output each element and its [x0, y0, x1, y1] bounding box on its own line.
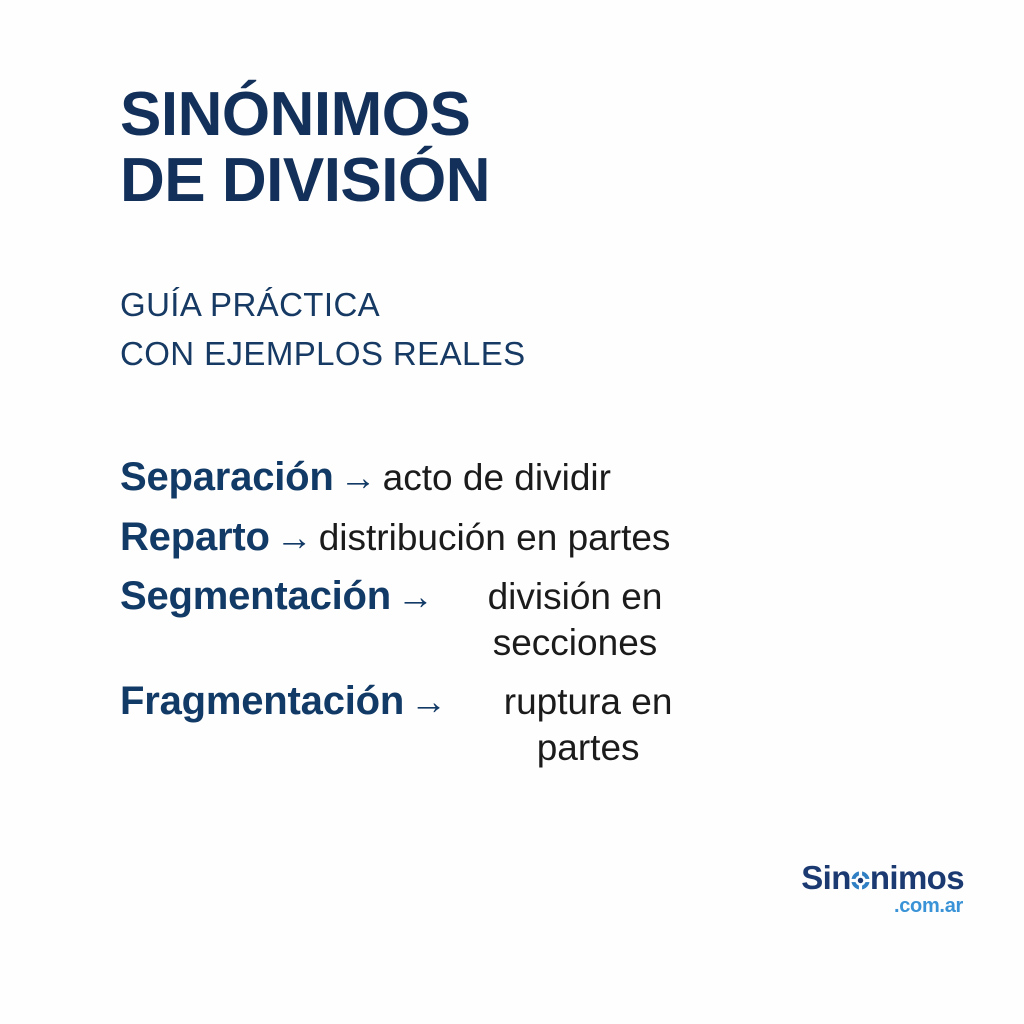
synonym-term: Reparto	[120, 515, 270, 559]
right-arrow-icon: →	[270, 517, 319, 558]
page-title-line-2: DE DIVISIÓN	[120, 148, 980, 214]
logo-wordmark: Sin nimos	[801, 861, 964, 894]
synonym-definition: distribución en partes	[319, 517, 671, 558]
logo-text-before: Sin	[801, 859, 851, 896]
synonym-definition: ruptura en partes	[453, 679, 723, 770]
synonym-definition: acto de dividir	[383, 457, 611, 498]
list-item: Reparto→distribución en partes	[120, 515, 920, 561]
synonym-term: Segmentación	[120, 574, 391, 619]
infographic-card: SINÓNIMOS DE DIVISIÓN GUÍA PRÁCTICA CON …	[0, 0, 1024, 1024]
gear-o-icon	[850, 870, 871, 891]
header-block: SINÓNIMOS DE DIVISIÓN	[120, 82, 980, 213]
synonym-list: Separación→acto de dividir Reparto→distr…	[120, 455, 920, 770]
synonym-definition: división en secciones	[440, 574, 710, 665]
synonym-term: Fragmentación	[120, 679, 404, 724]
subtitle-line-1: GUÍA PRÁCTICA	[120, 281, 940, 330]
logo-tld: .com.ar	[789, 896, 963, 916]
synonym-term: Separación	[120, 455, 334, 499]
right-arrow-icon: →	[391, 576, 440, 618]
list-item: Separación→acto de dividir	[120, 455, 920, 501]
logo-text-after: nimos	[870, 859, 964, 896]
right-arrow-icon: →	[334, 457, 383, 498]
right-arrow-icon: →	[404, 681, 453, 723]
list-item: Fragmentación→ruptura en partes	[120, 679, 920, 770]
site-logo[interactable]: Sin nimos .com.ar	[789, 861, 964, 916]
list-item: Segmentación→división en secciones	[120, 574, 920, 665]
page-title-line-1: SINÓNIMOS	[120, 82, 980, 148]
subtitle-block: GUÍA PRÁCTICA CON EJEMPLOS REALES	[120, 281, 940, 378]
subtitle-line-2: CON EJEMPLOS REALES	[120, 330, 940, 379]
